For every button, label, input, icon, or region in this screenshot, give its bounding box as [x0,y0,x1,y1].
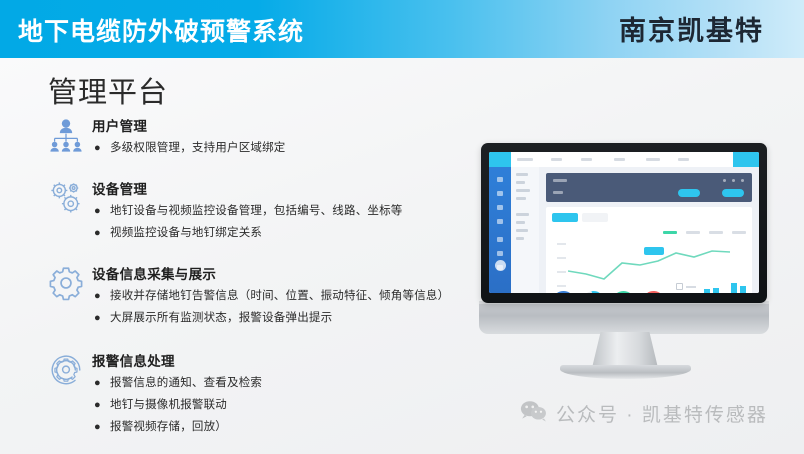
submenu-item [516,213,529,216]
dashboard-menu-item [678,158,689,161]
feature-body: 设备管理 ● 地钉设备与视频监控设备管理，包括编号、线路、坐标等 ● 视频监控设… [92,177,403,248]
monitor-stand-neck [592,332,658,368]
bullet-text: 多级权限管理，支持用户区域绑定 [110,141,286,156]
watermark: 公众号 · 凯基特传感器 [520,400,768,427]
bullet-dot: ● [92,311,110,326]
feature-bullet: ● 地钉设备与视频监控设备管理，包括编号、线路、坐标等 [92,204,403,219]
bullet-text: 大屏展示所有监测状态，报警设备弹出提示 [110,311,332,326]
chart-y-axis [550,241,566,291]
bullet-dot: ● [92,141,110,156]
sidebar-icon [497,191,503,196]
bullet-text: 接收并存储地钉告警信息（时间、位置、振动特征、倾角等信息） [110,289,449,304]
dashboard-topbar [489,152,759,168]
card-dot [732,179,735,182]
bullet-dot: ● [92,289,110,304]
gear-icon [40,262,92,310]
feature-title: 设备信息采集与展示 [92,263,449,283]
submenu-item [516,221,525,224]
dashboard-menu-item [551,158,562,161]
feature-bullet: ● 多级权限管理，支持用户区域绑定 [92,141,286,156]
dashboard-action-button [733,152,759,167]
org-chart-users-icon [40,114,92,162]
header-brand: 南京凯基特 [619,9,764,48]
bullet-text: 地钉设备与视频监控设备管理，包括编号、线路、坐标等 [110,204,403,219]
page-header: 地下电缆防外破预警系统 南京凯基特 [0,0,804,58]
header-title: 地下电缆防外破预警系统 [18,12,304,48]
feature-list: 用户管理 ● 多级权限管理，支持用户区域绑定 [40,114,510,446]
bar-column [740,286,746,293]
sidebar-icon [497,251,503,256]
gears-icon [40,177,92,225]
feature-body: 报警信息处理 ● 报警信息的通知、查看及检索 ● 地钉与摄像机报警联动 ● 报警… [92,349,262,442]
feature-item-device-management: 设备管理 ● 地钉设备与视频监控设备管理，包括编号、线路、坐标等 ● 视频监控设… [40,177,510,248]
feature-body: 用户管理 ● 多级权限管理，支持用户区域绑定 [92,114,286,163]
feature-item-alarm-handling: 报警信息处理 ● 报警信息的通知、查看及检索 ● 地钉与摄像机报警联动 ● 报警… [40,349,510,442]
feature-bullet: ● 地钉与摄像机报警联动 [92,398,262,413]
monitor-bezel [481,143,767,303]
legend-swatch [732,231,746,234]
submenu-item [516,237,524,240]
dashboard-submenu [511,167,540,293]
wechat-icon [520,400,547,427]
legend-swatch [709,231,723,234]
sidebar-icon [497,205,503,210]
legend-swatch [686,231,700,234]
gauge-donut-blue [552,291,575,293]
feature-item-device-data: 设备信息采集与展示 ● 接收并存储地钉告警信息（时间、位置、振动特征、倾角等信息… [40,262,510,333]
feature-item-user-management: 用户管理 ● 多级权限管理，支持用户区域绑定 [40,114,510,163]
dashboard-sidebar [489,167,511,293]
sidebar-avatar [495,260,506,271]
card-action-button[interactable] [722,189,744,197]
sidebar-icon [497,219,503,224]
chart-tabs [552,213,746,222]
chart-tooltip [644,247,664,255]
feature-title: 报警信息处理 [92,350,262,370]
dashboard-logo [489,152,511,167]
bullet-dot: ● [92,376,110,391]
desktop-monitor-illustration [481,143,793,358]
gauge-donut-green [612,291,635,293]
bullet-text: 视频监控设备与地钉绑定关系 [110,226,262,241]
dashboard-menu-item [646,158,660,161]
submenu-item [516,189,530,192]
bar-column [713,288,719,293]
feature-bullet: ● 接收并存储地钉告警信息（时间、位置、振动特征、倾角等信息） [92,289,449,304]
slide-page: 地下电缆防外破预警系统 南京凯基特 管理平台 [0,0,804,454]
bullet-dot: ● [92,204,110,219]
feature-bullet: ● 报警视频存储，回放） [92,420,262,435]
feature-bullet: ● 视频监控设备与地钉绑定关系 [92,226,403,241]
dashboard-header-card [546,173,752,202]
submenu-item [516,181,525,184]
dashboard-gauges [552,291,665,293]
chart-tab-inactive[interactable] [582,213,608,222]
bullet-text: 报警信息的通知、查看及检索 [110,376,262,391]
monitor-stand-base [560,365,691,379]
dashboard-bar-chart [704,279,746,293]
card-label [553,179,567,182]
dashboard-legend-list [676,283,696,293]
bullet-dot: ● [92,398,110,413]
feature-title: 用户管理 [92,115,286,135]
sidebar-icon [497,237,503,242]
dashboard-main [539,167,759,293]
chart-tab-active[interactable] [552,213,578,222]
feature-bullet: ● 报警信息的通知、查看及检索 [92,376,262,391]
bar-column [704,289,710,293]
watermark-text: 公众号 · 凯基特传感器 [556,400,768,427]
feature-body: 设备信息采集与展示 ● 接收并存储地钉告警信息（时间、位置、振动特征、倾角等信息… [92,262,449,333]
legend-row [676,283,696,290]
dashboard-chart-card [546,207,752,293]
bar-column [731,283,737,293]
bullet-text: 地钉与摄像机报警联动 [110,398,227,413]
bullet-dot: ● [92,226,110,241]
chart-legend [663,231,746,234]
dashboard-menu-item [581,158,592,161]
card-dot [741,179,744,182]
dashboard-menu-item [517,158,533,161]
dashboard-menu-item [614,158,625,161]
card-action-button[interactable] [678,189,700,197]
monitor-screen [489,152,759,293]
card-label [553,191,563,194]
submenu-item [516,229,528,232]
submenu-item [516,173,528,176]
bullet-dot: ● [92,420,110,435]
page-title: 管理平台 [48,69,168,111]
card-dot [723,179,726,182]
monitor-chin [479,301,769,334]
feature-bullet: ● 大屏展示所有监测状态，报警设备弹出提示 [92,311,449,326]
submenu-item [516,197,526,200]
legend-swatch [663,231,677,234]
gear-in-circle-icon [40,349,92,397]
sidebar-icon [497,177,503,182]
feature-title: 设备管理 [92,178,403,198]
bullet-text: 报警视频存储，回放） [110,420,227,435]
